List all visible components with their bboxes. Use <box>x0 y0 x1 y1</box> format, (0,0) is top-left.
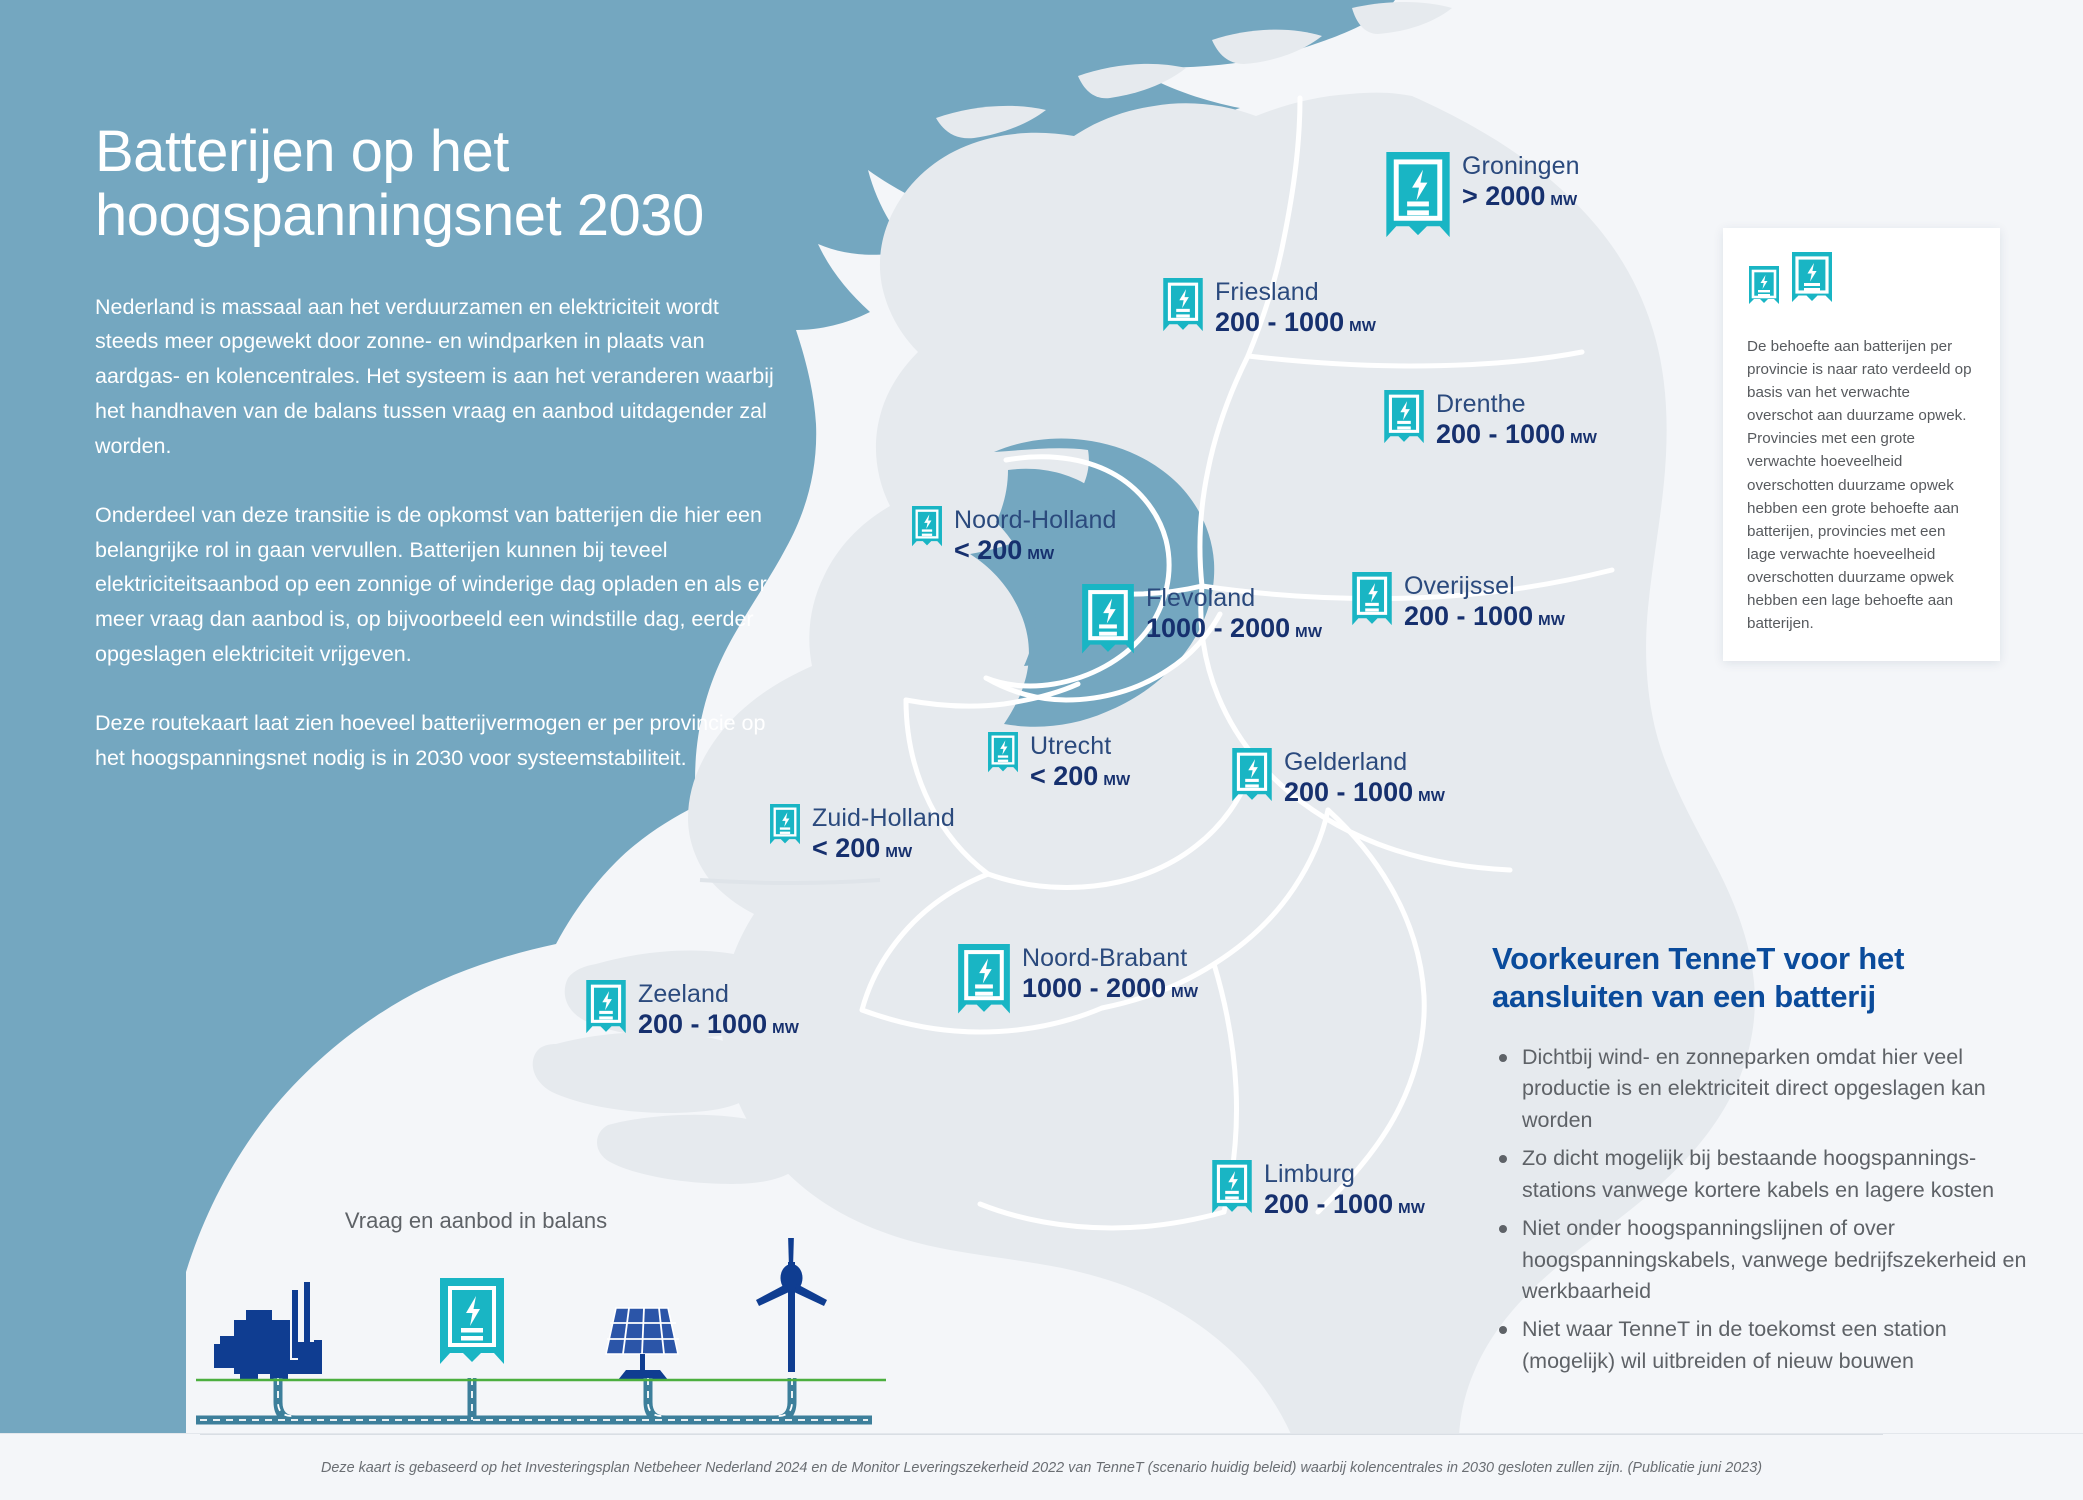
province-name: Flevoland <box>1146 584 1322 612</box>
intro-paragraph-2: Onderdeel van deze transitie is de opkom… <box>95 498 775 672</box>
province-label-drenthe: Drenthe200 - 1000MW <box>1384 390 1597 452</box>
battery-icon-large <box>1790 250 1834 319</box>
battery-icon <box>440 1278 504 1364</box>
province-name: Noord-Holland <box>954 506 1117 534</box>
battery-icon <box>586 980 626 1038</box>
province-name: Zeeland <box>638 980 799 1008</box>
province-text: Gelderland200 - 1000MW <box>1284 748 1445 810</box>
province-value: 1000 - 2000MW <box>1022 972 1198 1006</box>
province-value-number: 200 - 1000 <box>1436 418 1565 452</box>
province-name: Noord-Brabant <box>1022 944 1198 972</box>
legend-info-card: De behoefte aan batterijen per provincie… <box>1723 228 2000 661</box>
province-value-number: < 200 <box>812 832 880 866</box>
province-value: > 2000MW <box>1462 180 1580 214</box>
battery-icon <box>1232 748 1272 806</box>
province-label-flevoland: Flevoland1000 - 2000MW <box>1082 584 1322 660</box>
province-value-number: > 2000 <box>1462 180 1545 214</box>
province-value-unit: MW <box>772 1020 799 1039</box>
battery-icon <box>770 804 800 848</box>
province-name: Utrecht <box>1030 732 1130 760</box>
province-value: 200 - 1000MW <box>1284 776 1445 810</box>
preference-item: Niet waar TenneT in de toekomst een stat… <box>1522 1314 2032 1378</box>
balance-caption: Vraag en aanbod in balans <box>196 1208 756 1234</box>
province-value-number: 200 - 1000 <box>1215 306 1344 340</box>
province-text: Friesland200 - 1000MW <box>1215 278 1376 340</box>
footer-source-text: Deze kaart is gebaseerd op het Investeri… <box>0 1460 2083 1476</box>
legend-icons <box>1747 250 1976 319</box>
province-value-number: 200 - 1000 <box>1284 776 1413 810</box>
balance-illustration: Vraag en aanbod in balans <box>196 1208 896 1443</box>
province-value: < 200MW <box>954 534 1117 568</box>
battery-icon-small <box>1747 264 1781 319</box>
province-value: 200 - 1000MW <box>638 1008 799 1042</box>
province-text: Overijssel200 - 1000MW <box>1404 572 1565 634</box>
province-name: Gelderland <box>1284 748 1445 776</box>
preference-item: Dichtbij wind- en zonneparken omdat hier… <box>1522 1042 2032 1137</box>
province-text: Zeeland200 - 1000MW <box>638 980 799 1042</box>
intro-paragraph-3: Deze routekaart laat zien hoeveel batter… <box>95 706 775 776</box>
footer-bar: Deze kaart is gebaseerd op het Investeri… <box>0 1433 2083 1500</box>
province-name: Groningen <box>1462 152 1580 180</box>
province-value-number: 1000 - 2000 <box>1146 612 1290 646</box>
cable-network <box>196 1378 872 1420</box>
balance-diagram <box>196 1238 896 1438</box>
province-value-unit: MW <box>1295 624 1322 643</box>
province-text: Noord-Holland< 200MW <box>954 506 1117 568</box>
province-value-number: 200 - 1000 <box>638 1008 767 1042</box>
province-value-unit: MW <box>1349 318 1376 337</box>
province-text: Noord-Brabant1000 - 2000MW <box>1022 944 1198 1006</box>
page-title: Batterijen op het hoogspanningsnet 2030 <box>95 120 785 248</box>
province-label-limburg: Limburg200 - 1000MW <box>1212 1160 1425 1222</box>
province-name: Limburg <box>1264 1160 1425 1188</box>
preference-item: Zo dicht mogelijk bij bestaande hoogspan… <box>1522 1143 2032 1207</box>
province-value-unit: MW <box>1103 772 1130 791</box>
wind-turbine-icon <box>756 1238 827 1372</box>
cable-dashes <box>200 1378 868 1420</box>
province-value-unit: MW <box>885 844 912 863</box>
infographic-page: Batterijen op het hoogspanningsnet 2030 … <box>0 0 2083 1500</box>
province-value-number: < 200 <box>1030 760 1098 794</box>
page-title-line1: Batterijen op het <box>95 119 509 184</box>
province-value-unit: MW <box>1418 788 1445 807</box>
province-label-noord-holland: Noord-Holland< 200MW <box>912 506 1117 568</box>
province-text: Utrecht< 200MW <box>1030 732 1130 794</box>
province-label-zuid-holland: Zuid-Holland< 200MW <box>770 804 955 866</box>
province-name: Friesland <box>1215 278 1376 306</box>
solar-panel-icon <box>606 1308 679 1380</box>
province-label-utrecht: Utrecht< 200MW <box>988 732 1130 794</box>
province-value: 200 - 1000MW <box>1264 1188 1425 1222</box>
battery-icon <box>912 506 942 550</box>
province-name: Zuid-Holland <box>812 804 955 832</box>
province-value: < 200MW <box>1030 760 1130 794</box>
province-value-unit: MW <box>1538 612 1565 631</box>
province-label-zeeland: Zeeland200 - 1000MW <box>586 980 799 1042</box>
province-text: Drenthe200 - 1000MW <box>1436 390 1597 452</box>
page-title-line2: hoogspanningsnet 2030 <box>95 183 704 248</box>
power-plant-icon <box>214 1282 322 1379</box>
province-value-unit: MW <box>1550 192 1577 211</box>
province-label-groningen: Groningen> 2000MW <box>1386 152 1580 245</box>
province-text: Zuid-Holland< 200MW <box>812 804 955 866</box>
battery-icon <box>1352 572 1392 630</box>
province-text: Flevoland1000 - 2000MW <box>1146 584 1322 646</box>
province-value: 200 - 1000MW <box>1404 600 1565 634</box>
province-name: Overijssel <box>1404 572 1565 600</box>
intro-block: Batterijen op het hoogspanningsnet 2030 … <box>95 120 785 810</box>
battery-icon <box>1082 584 1134 660</box>
preferences-heading-line2: aansluiten van een batterij <box>1492 979 1876 1014</box>
province-text: Groningen> 2000MW <box>1462 152 1580 214</box>
province-value-unit: MW <box>1398 1200 1425 1219</box>
battery-icon <box>1386 152 1450 245</box>
battery-icon <box>1163 278 1203 336</box>
preferences-heading-line1: Voorkeuren TenneT voor het <box>1492 941 1904 976</box>
battery-icon <box>958 944 1010 1020</box>
preferences-block: Voorkeuren TenneT voor het aansluiten va… <box>1492 940 2032 1384</box>
preference-item: Niet onder hoogspanningslijnen of over h… <box>1522 1213 2032 1308</box>
battery-icon <box>1384 390 1424 448</box>
province-name: Drenthe <box>1436 390 1597 418</box>
province-label-gelderland: Gelderland200 - 1000MW <box>1232 748 1445 810</box>
province-value: 200 - 1000MW <box>1215 306 1376 340</box>
province-value-number: 200 - 1000 <box>1264 1188 1393 1222</box>
battery-icon <box>1212 1160 1252 1218</box>
province-value: 200 - 1000MW <box>1436 418 1597 452</box>
province-value-number: 200 - 1000 <box>1404 600 1533 634</box>
province-text: Limburg200 - 1000MW <box>1264 1160 1425 1222</box>
legend-info-text: De behoefte aan batterijen per provincie… <box>1747 335 1976 635</box>
province-value: 1000 - 2000MW <box>1146 612 1322 646</box>
province-value-unit: MW <box>1171 984 1198 1003</box>
battery-icon <box>988 732 1018 776</box>
province-label-overijssel: Overijssel200 - 1000MW <box>1352 572 1565 634</box>
preferences-list: Dichtbij wind- en zonneparken omdat hier… <box>1492 1042 2032 1378</box>
province-value-number: 1000 - 2000 <box>1022 972 1166 1006</box>
province-label-friesland: Friesland200 - 1000MW <box>1163 278 1376 340</box>
province-value: < 200MW <box>812 832 955 866</box>
province-value-unit: MW <box>1027 546 1054 565</box>
intro-paragraph-1: Nederland is massaal aan het verduurzame… <box>95 290 775 464</box>
province-value-unit: MW <box>1570 430 1597 449</box>
footer-divider <box>200 1434 1883 1435</box>
preferences-heading: Voorkeuren TenneT voor het aansluiten va… <box>1492 940 2032 1016</box>
province-value-number: < 200 <box>954 534 1022 568</box>
province-label-noord-brabant: Noord-Brabant1000 - 2000MW <box>958 944 1198 1020</box>
